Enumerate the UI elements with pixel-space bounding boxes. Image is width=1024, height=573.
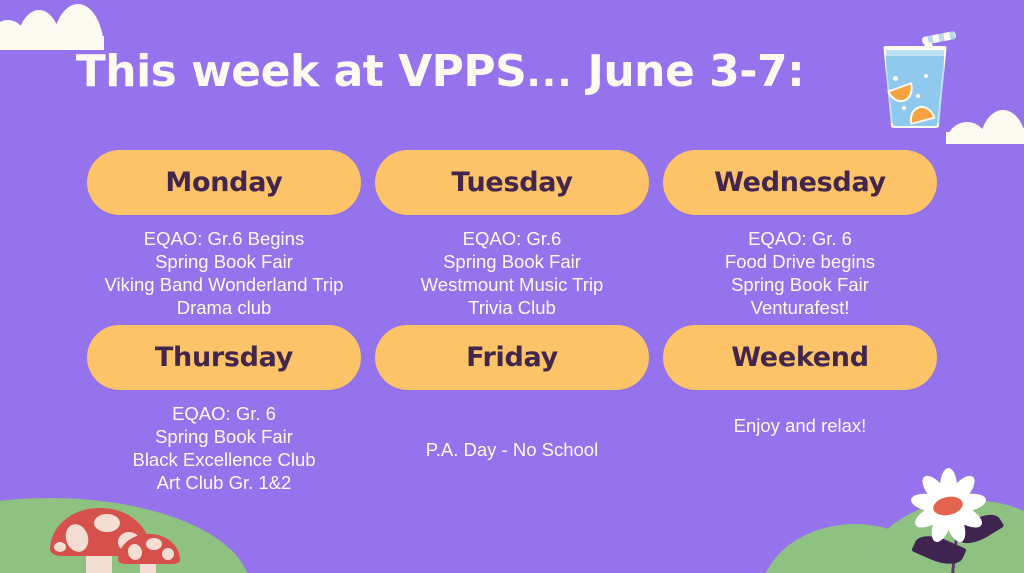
day-items-wednesday: EQAO: Gr. 6 Food Drive begins Spring Boo… bbox=[656, 227, 944, 319]
green-hill-shape bbox=[960, 516, 1024, 573]
day-column-tuesday: Tuesday EQAO: Gr.6 Spring Book Fair West… bbox=[368, 150, 656, 319]
daisy-flower-icon bbox=[900, 462, 1020, 573]
mushroom-icon bbox=[50, 508, 150, 573]
daisy-petal bbox=[940, 503, 969, 545]
daisy-petal bbox=[941, 471, 978, 511]
green-hill-shape bbox=[760, 524, 950, 573]
list-item: EQAO: Gr.6 bbox=[368, 227, 656, 250]
day-column-friday: Friday P.A. Day - No School bbox=[368, 325, 656, 461]
day-pill-weekend[interactable]: Weekend bbox=[663, 325, 937, 390]
list-item: Enjoy and relax! bbox=[656, 414, 944, 437]
day-items-monday: EQAO: Gr.6 Begins Spring Book Fair Vikin… bbox=[80, 227, 368, 319]
day-label-monday: Monday bbox=[165, 167, 282, 198]
list-item: EQAO: Gr.6 Begins bbox=[80, 227, 368, 250]
day-pill-thursday[interactable]: Thursday bbox=[87, 325, 361, 390]
daisy-petal bbox=[927, 503, 956, 545]
mushroom-icon bbox=[118, 534, 180, 573]
day-label-friday: Friday bbox=[466, 342, 558, 373]
list-item: EQAO: Gr. 6 bbox=[80, 402, 368, 425]
day-column-wednesday: Wednesday EQAO: Gr. 6 Food Drive begins … bbox=[656, 150, 944, 319]
daisy-petal bbox=[940, 468, 957, 506]
cloud-icon bbox=[946, 108, 1024, 144]
title-main: This week at VPPS bbox=[76, 46, 527, 97]
day-items-friday: P.A. Day - No School bbox=[368, 438, 656, 461]
list-item: Spring Book Fair bbox=[368, 250, 656, 273]
poster-canvas: This week at VPPS... June 3-7: Monday EQ… bbox=[0, 0, 1024, 573]
daisy-center bbox=[931, 494, 964, 518]
day-column-monday: Monday EQAO: Gr.6 Begins Spring Book Fai… bbox=[80, 150, 368, 319]
list-item: Art Club Gr. 1&2 bbox=[80, 471, 368, 494]
day-label-wednesday: Wednesday bbox=[714, 167, 886, 198]
list-item: Westmount Music Trip bbox=[368, 273, 656, 296]
list-item: Viking Band Wonderland Trip bbox=[80, 273, 368, 296]
lemonade-glass-icon bbox=[872, 30, 964, 132]
list-item: Spring Book Fair bbox=[656, 273, 944, 296]
day-items-thursday: EQAO: Gr. 6 Spring Book Fair Black Excel… bbox=[80, 402, 368, 494]
daisy-petal bbox=[917, 471, 954, 511]
daisy-petal bbox=[909, 491, 949, 514]
list-item: Spring Book Fair bbox=[80, 425, 368, 448]
daisy-petal bbox=[947, 491, 987, 514]
day-pill-friday[interactable]: Friday bbox=[375, 325, 649, 390]
list-item: Food Drive begins bbox=[656, 250, 944, 273]
title-ellipsis: ... bbox=[526, 51, 572, 95]
day-label-thursday: Thursday bbox=[155, 342, 293, 373]
daisy-petal bbox=[944, 499, 985, 533]
green-hill-shape bbox=[860, 500, 1024, 573]
list-item: P.A. Day - No School bbox=[368, 438, 656, 461]
list-item: EQAO: Gr. 6 bbox=[656, 227, 944, 250]
day-items-weekend: Enjoy and relax! bbox=[656, 414, 944, 437]
page-title: This week at VPPS... June 3-7: bbox=[0, 46, 880, 97]
list-item: Venturafest! bbox=[656, 296, 944, 319]
day-pill-monday[interactable]: Monday bbox=[87, 150, 361, 215]
day-pill-tuesday[interactable]: Tuesday bbox=[375, 150, 649, 215]
day-column-weekend: Weekend Enjoy and relax! bbox=[656, 325, 944, 437]
cloud-icon bbox=[0, 4, 116, 50]
day-column-thursday: Thursday EQAO: Gr. 6 Spring Book Fair Bl… bbox=[80, 325, 368, 494]
day-pill-wednesday[interactable]: Wednesday bbox=[663, 150, 937, 215]
green-hill-shape bbox=[0, 498, 250, 573]
list-item: Spring Book Fair bbox=[80, 250, 368, 273]
day-label-tuesday: Tuesday bbox=[451, 167, 572, 198]
daisy-petal bbox=[911, 499, 952, 533]
list-item: Drama club bbox=[80, 296, 368, 319]
title-dates: June 3-7: bbox=[573, 46, 805, 97]
list-item: Black Excellence Club bbox=[80, 448, 368, 471]
day-items-tuesday: EQAO: Gr.6 Spring Book Fair Westmount Mu… bbox=[368, 227, 656, 319]
list-item: Trivia Club bbox=[368, 296, 656, 319]
day-label-weekend: Weekend bbox=[731, 342, 868, 373]
